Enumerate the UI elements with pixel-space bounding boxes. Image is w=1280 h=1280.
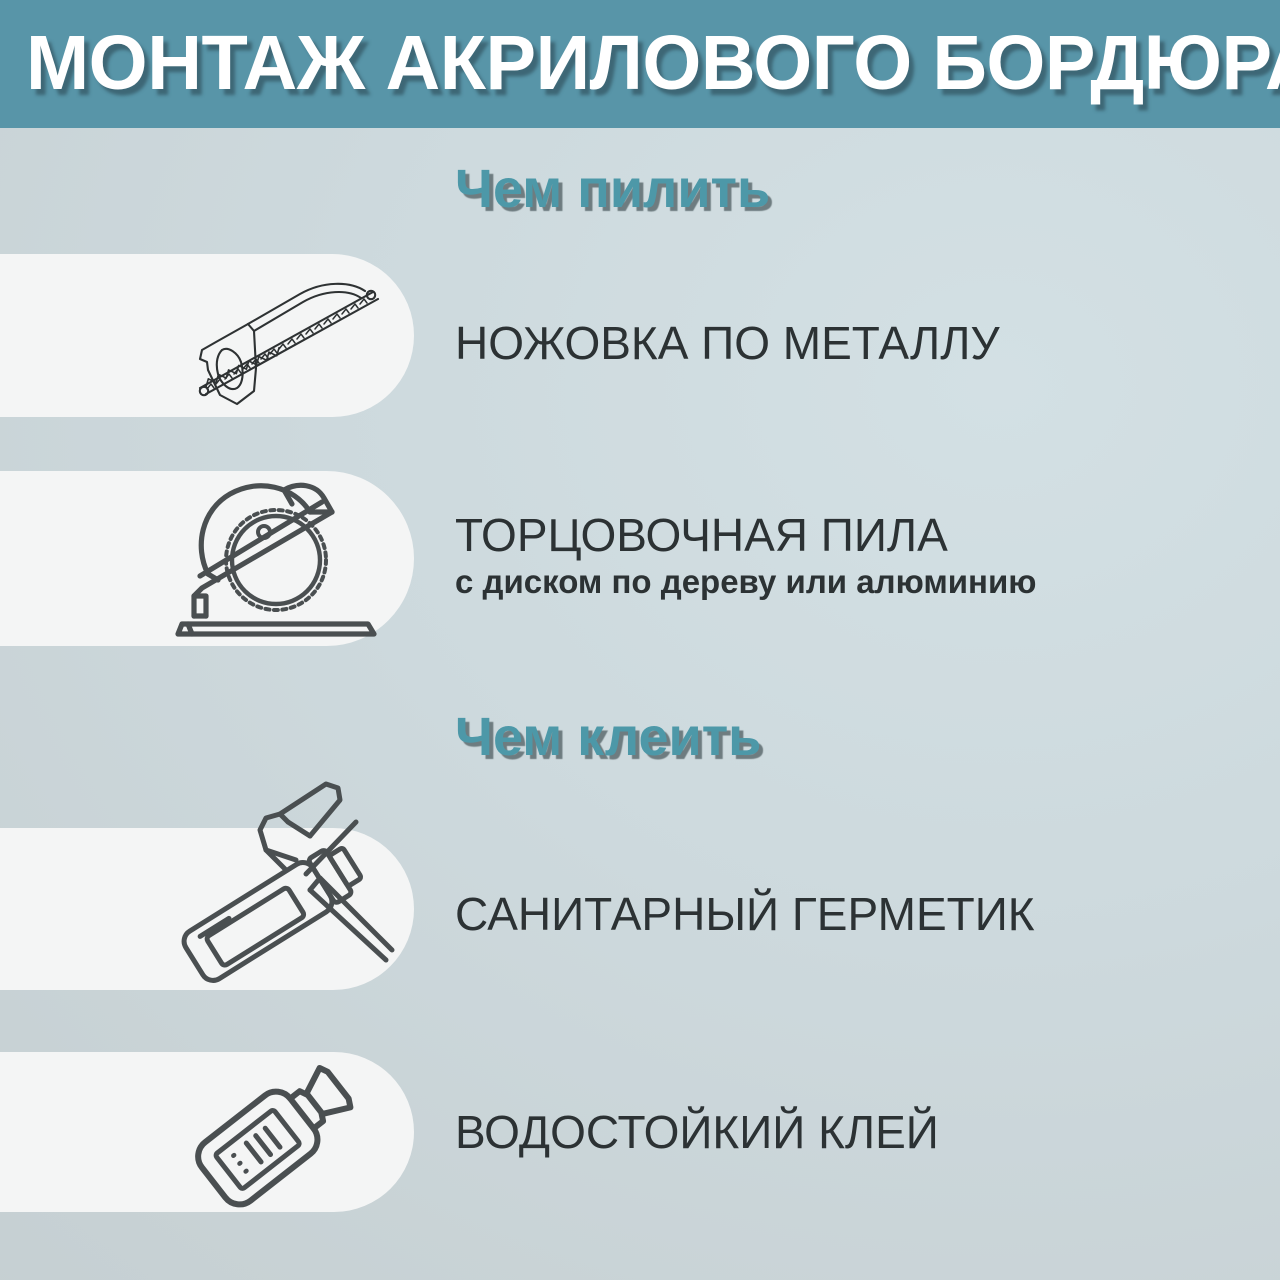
item-label-glue: ВОДОСТОЙКИЙ КЛЕЙ: [455, 1105, 939, 1159]
item-title: САНИТАРНЫЙ ГЕРМЕТИК: [455, 887, 1035, 941]
item-label-miter-saw: ТОРЦОВОЧНАЯ ПИЛА с диском по дереву или …: [455, 508, 1036, 602]
glue-bottle-icon: [176, 1062, 362, 1210]
item-label-sealant: САНИТАРНЫЙ ГЕРМЕТИК: [455, 887, 1035, 941]
item-label-hacksaw: НОЖОВКА ПО МЕТАЛЛУ: [455, 316, 1000, 370]
item-title: НОЖОВКА ПО МЕТАЛЛУ: [455, 316, 1000, 370]
section-heading-cutting: Чем пилить: [455, 158, 770, 220]
item-title: ВОДОСТОЙКИЙ КЛЕЙ: [455, 1105, 939, 1159]
miter-saw-icon: [172, 472, 384, 638]
page-title: МОНТАЖ АКРИЛОВОГО БОРДЮРА: [26, 17, 1247, 109]
hacksaw-icon: [160, 258, 390, 408]
item-title: ТОРЦОВОЧНАЯ ПИЛА: [455, 508, 1036, 562]
section-heading-gluing: Чем клеить: [455, 706, 761, 768]
infographic-poster: МОНТАЖ АКРИЛОВОГО БОРДЮРА Чем пилить Чем…: [0, 0, 1280, 1280]
item-subtitle: с диском по дереву или алюминию: [455, 562, 1036, 602]
caulking-gun-icon: [160, 778, 408, 990]
header-bar: МОНТАЖ АКРИЛОВОГО БОРДЮРА: [0, 0, 1280, 128]
